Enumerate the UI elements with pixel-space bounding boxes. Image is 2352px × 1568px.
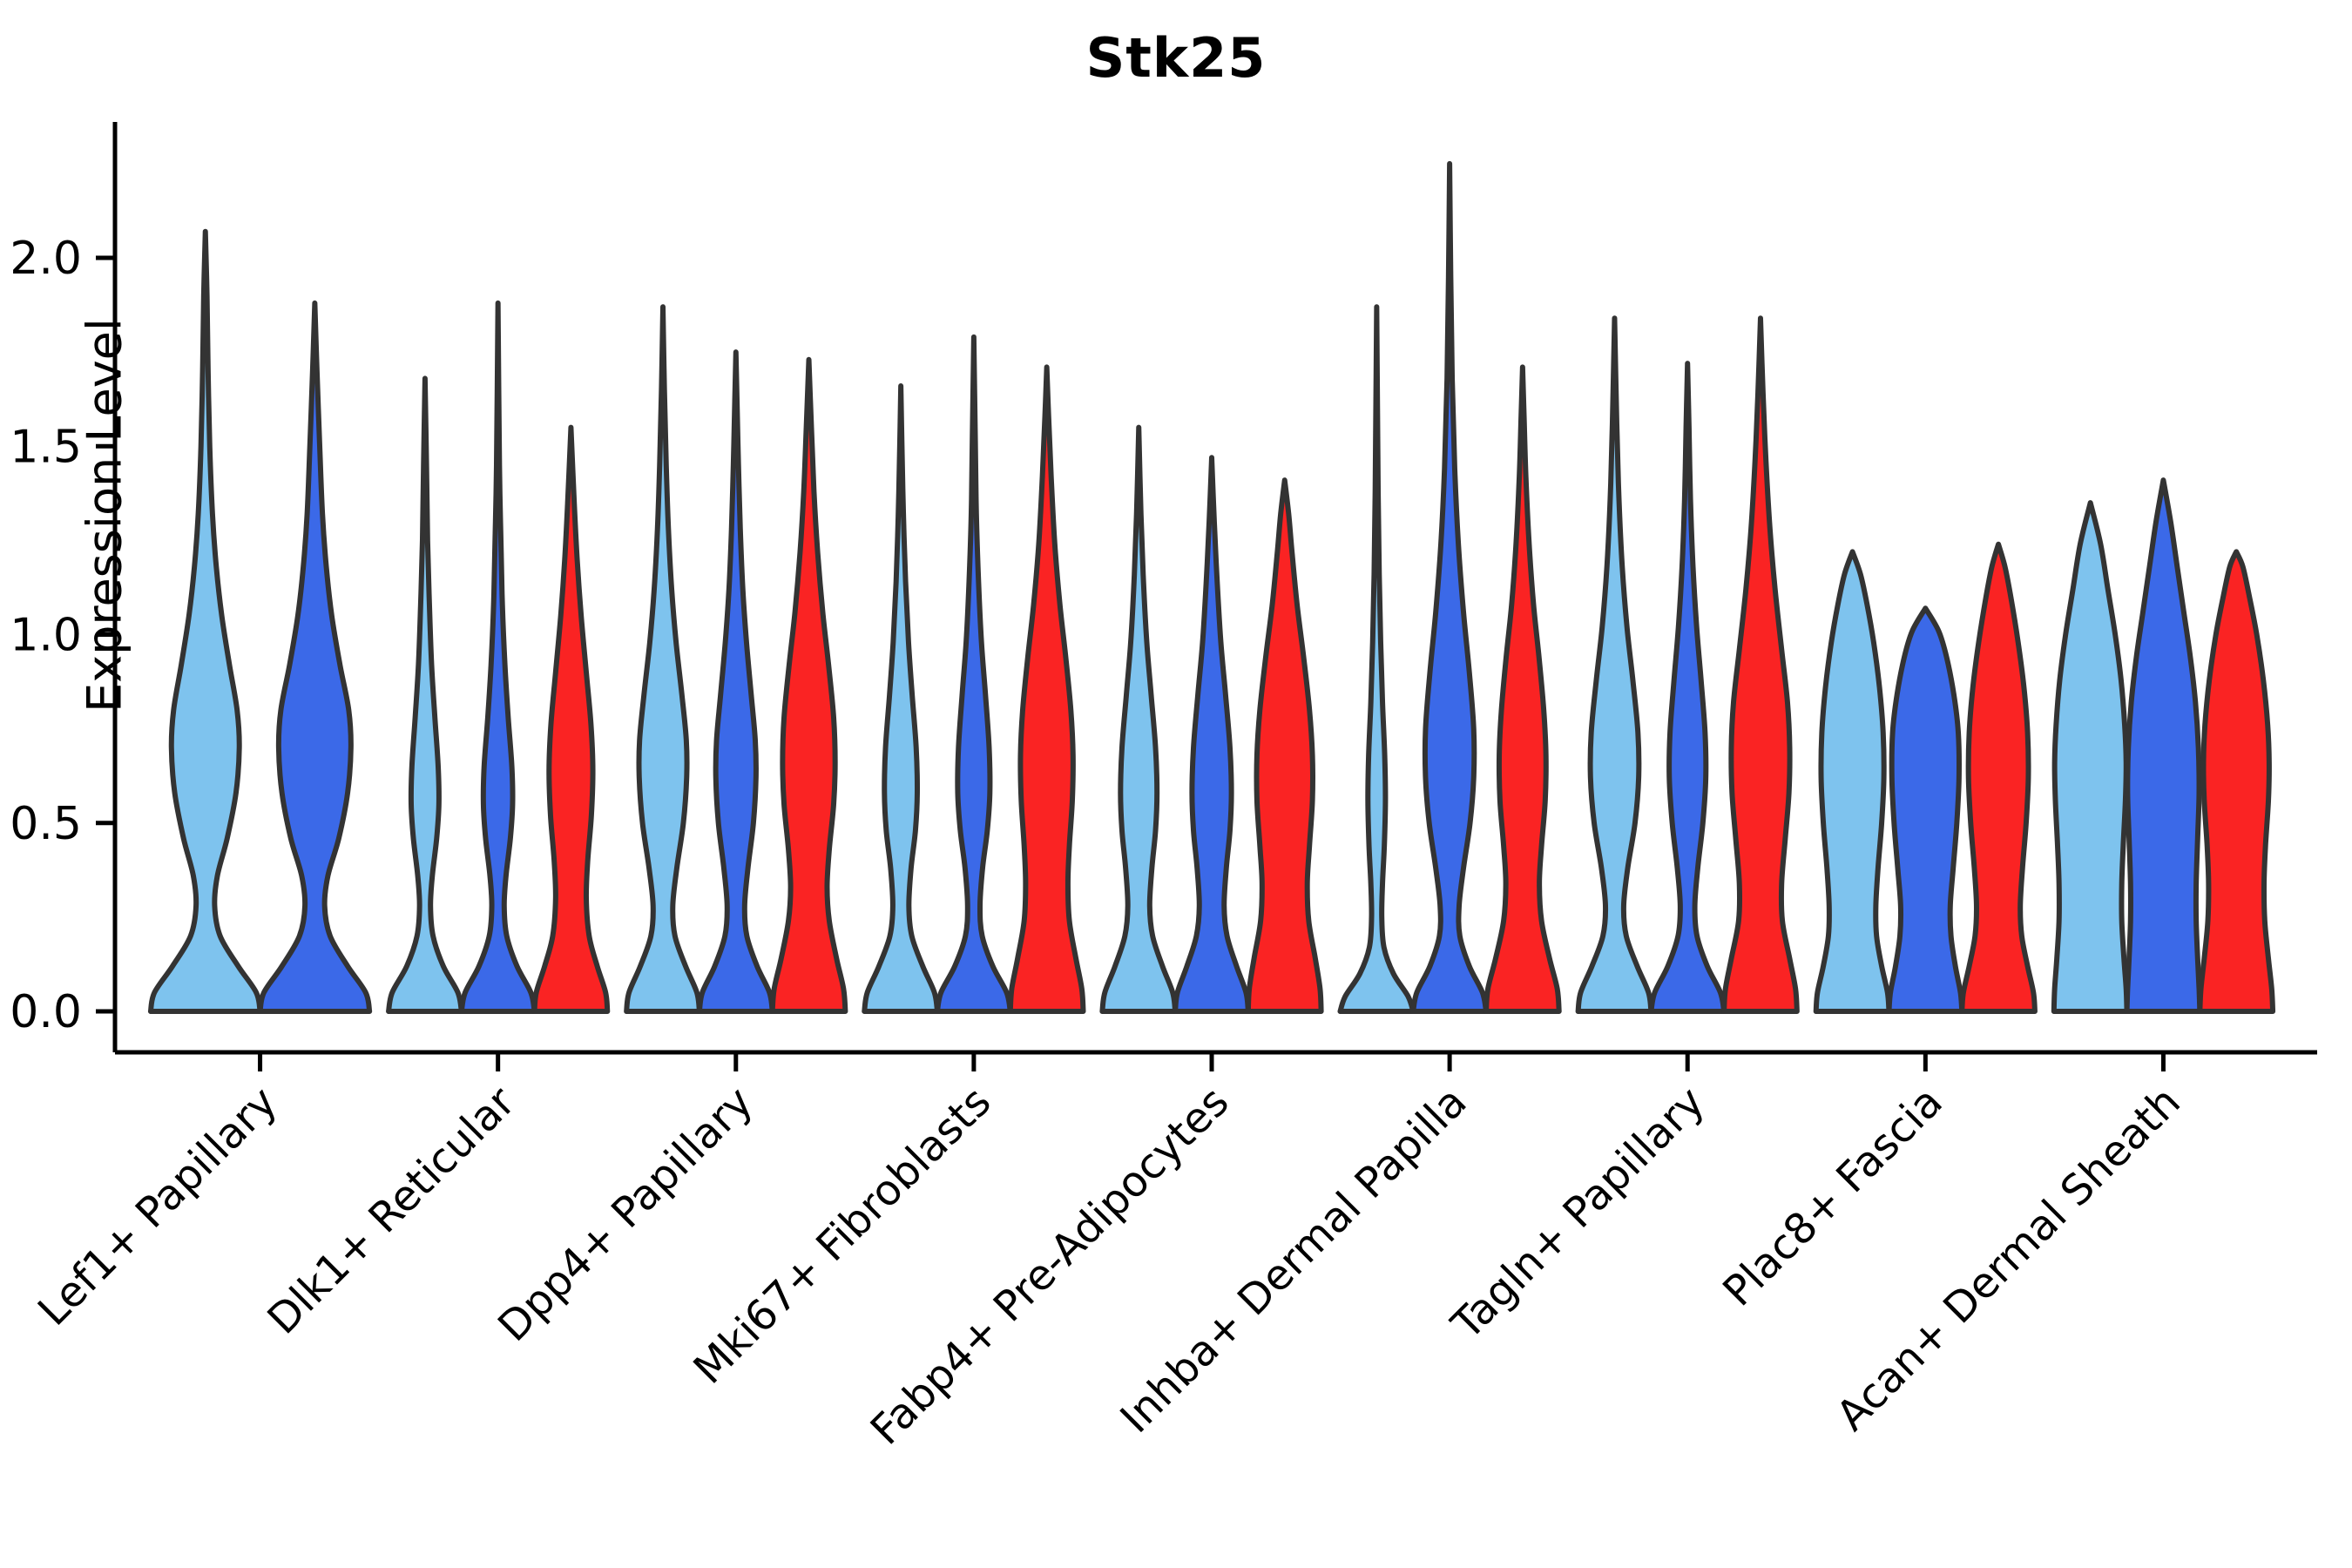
violin-group: [1340, 164, 1558, 1011]
x-tick-label: Plac8+ Fascia: [1713, 1078, 1952, 1316]
violin-shape[interactable]: [2127, 480, 2200, 1011]
violin-shape[interactable]: [389, 378, 462, 1011]
violin-group: [864, 337, 1083, 1011]
y-tick-label: 1.5: [10, 421, 82, 473]
violin-shape[interactable]: [937, 337, 1010, 1011]
y-tick-label: 0.5: [10, 798, 82, 850]
violin-group: [626, 307, 845, 1011]
violin-shape[interactable]: [864, 386, 937, 1011]
violin-group: [151, 232, 369, 1011]
x-tick-label: Dpp4+ Papillary: [489, 1078, 762, 1351]
violin-shape[interactable]: [700, 352, 773, 1011]
y-tick-label: 1.0: [10, 610, 82, 662]
violin-shape[interactable]: [151, 232, 260, 1011]
violin-shape[interactable]: [2200, 551, 2273, 1011]
violin-shape[interactable]: [1578, 318, 1652, 1011]
violin-shape[interactable]: [1010, 367, 1084, 1011]
violins-layer: [151, 164, 2273, 1011]
violin-shape[interactable]: [1816, 551, 1889, 1011]
x-tick-labels: Lef1+ PapillaryDlk1+ ReticularDpp4+ Papi…: [29, 1052, 2190, 1455]
violin-shape[interactable]: [1962, 544, 2035, 1011]
violin-shape[interactable]: [1248, 480, 1321, 1011]
violin-shape[interactable]: [1724, 318, 1797, 1011]
y-tick-labels: 0.00.51.01.52.0: [10, 233, 115, 1038]
violin-shape[interactable]: [1175, 457, 1248, 1011]
violin-group: [1102, 428, 1321, 1011]
violin-group: [1816, 544, 2035, 1011]
violin-shape[interactable]: [626, 307, 700, 1011]
x-tick-label: Tagln+ Papillary: [1442, 1078, 1713, 1349]
x-tick-label: Dlk1+ Reticular: [258, 1078, 524, 1344]
violin-group: [389, 303, 607, 1011]
violin-group: [1578, 318, 1797, 1011]
violin-shape[interactable]: [2054, 503, 2127, 1011]
violin-shape[interactable]: [1413, 164, 1486, 1011]
violin-shape[interactable]: [1889, 608, 1962, 1011]
violin-plot-figure: Stk25 Expression Level 0.00.51.01.52.0 L…: [0, 0, 2352, 1568]
violin-shape[interactable]: [1486, 367, 1559, 1011]
violin-shape[interactable]: [535, 428, 608, 1011]
violin-shape[interactable]: [1340, 307, 1413, 1011]
violin-shape[interactable]: [1651, 363, 1724, 1011]
chart-canvas: 0.00.51.01.52.0 Lef1+ PapillaryDlk1+ Ret…: [0, 0, 2352, 1568]
violin-shape[interactable]: [462, 303, 535, 1011]
violin-group: [2054, 480, 2273, 1011]
violin-shape[interactable]: [1102, 428, 1175, 1011]
y-tick-label: 2.0: [10, 233, 82, 285]
violin-shape[interactable]: [773, 360, 846, 1011]
y-tick-label: 0.0: [10, 986, 82, 1038]
violin-shape[interactable]: [260, 303, 370, 1011]
x-tick-label: Lef1+ Papillary: [29, 1078, 287, 1335]
